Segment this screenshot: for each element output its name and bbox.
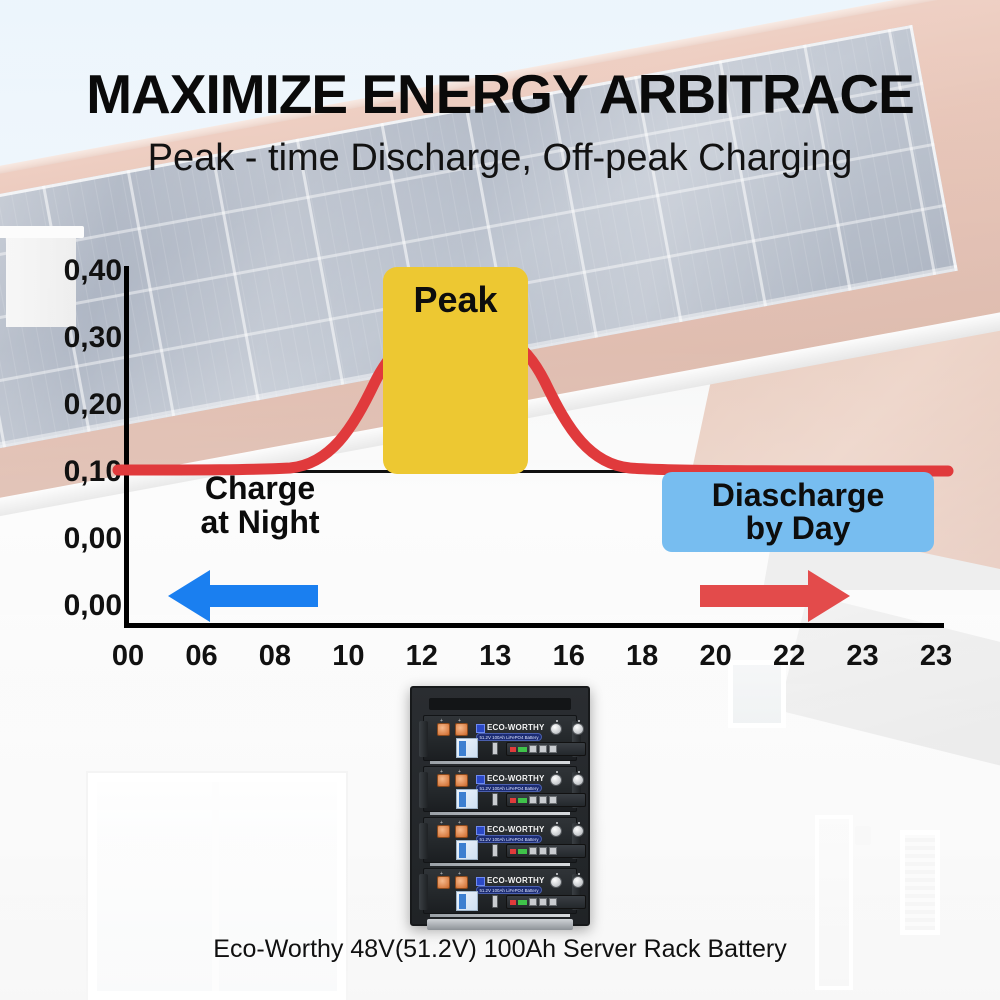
discharge-label-line1: Diascharge bbox=[712, 479, 885, 512]
brand-logo-icon bbox=[476, 724, 485, 733]
peak-label: Peak bbox=[413, 279, 497, 474]
module-base-trim bbox=[430, 914, 570, 917]
run-led-icon bbox=[518, 747, 527, 752]
alarm-led-icon bbox=[510, 900, 516, 905]
alarm-led-icon bbox=[510, 747, 516, 752]
battery-terminal bbox=[455, 723, 468, 736]
charge-label-line2: at Night bbox=[150, 506, 370, 540]
battery-module: + + ECO-WORTHY 51.2V 100Ah LiFePO4 Batte… bbox=[423, 766, 577, 812]
battery-module: + + ECO-WORTHY 51.2V 100Ah LiFePO4 Batte… bbox=[423, 868, 577, 914]
x-tick: 13 bbox=[471, 640, 519, 673]
battery-terminal bbox=[437, 825, 450, 838]
product-caption: Eco-Worthy 48V(51.2V) 100Ah Server Rack … bbox=[0, 935, 1000, 964]
rj45-port-icon bbox=[529, 796, 537, 804]
module-base-trim bbox=[430, 761, 570, 764]
x-tick: 06 bbox=[177, 640, 225, 673]
run-led-icon bbox=[518, 900, 527, 905]
module-spec-label: 51.2V 100Ah LiFePO4 Battery bbox=[476, 784, 542, 792]
status-display-icon bbox=[456, 840, 478, 860]
module-base-trim bbox=[430, 863, 570, 866]
battery-module: + + ECO-WORTHY 51.2V 100Ah LiFePO4 Batte… bbox=[423, 715, 577, 761]
x-tick: 20 bbox=[692, 640, 740, 673]
server-rack-battery-image: + + ECO-WORTHY 51.2V 100Ah LiFePO4 Batte… bbox=[410, 686, 590, 926]
x-tick: 08 bbox=[251, 640, 299, 673]
rj45-port-icon bbox=[549, 745, 557, 753]
rack-top-rail bbox=[429, 698, 571, 710]
status-display-icon bbox=[456, 891, 478, 911]
rj45-port-icon bbox=[539, 847, 547, 855]
module-spec-label: 51.2V 100Ah LiFePO4 Battery bbox=[476, 835, 542, 843]
x-tick: 10 bbox=[324, 640, 372, 673]
rj45-port-icon bbox=[549, 898, 557, 906]
rack-ear-left bbox=[419, 772, 428, 808]
x-tick: 12 bbox=[398, 640, 446, 673]
battery-terminal bbox=[437, 723, 450, 736]
run-led-icon bbox=[518, 798, 527, 803]
rack-ear-left bbox=[419, 823, 428, 859]
rj45-port-icon bbox=[539, 796, 547, 804]
mounting-knob bbox=[550, 774, 562, 786]
port-panel bbox=[506, 895, 586, 909]
brand-name: ECO-WORTHY bbox=[487, 825, 545, 834]
battery-terminal bbox=[437, 774, 450, 787]
peak-annotation-box: Peak bbox=[383, 267, 528, 474]
charge-left-arrow-icon bbox=[168, 568, 318, 624]
power-switch-icon bbox=[492, 844, 498, 857]
module-spec-label: 51.2V 100Ah LiFePO4 Battery bbox=[476, 733, 542, 741]
x-axis-tick-labels: 00 06 08 10 12 13 16 18 20 22 23 23 bbox=[104, 640, 960, 673]
battery-terminal bbox=[455, 774, 468, 787]
mounting-knob bbox=[572, 774, 584, 786]
x-tick: 22 bbox=[765, 640, 813, 673]
alarm-led-icon bbox=[510, 849, 516, 854]
power-switch-icon bbox=[492, 895, 498, 908]
brand-name: ECO-WORTHY bbox=[487, 876, 545, 885]
module-spec-label: 51.2V 100Ah LiFePO4 Battery bbox=[476, 886, 542, 894]
brand-logo-icon bbox=[476, 775, 485, 784]
battery-terminal bbox=[437, 876, 450, 889]
battery-terminal bbox=[455, 876, 468, 889]
brand-logo-icon bbox=[476, 826, 485, 835]
mounting-knob bbox=[550, 825, 562, 837]
port-panel bbox=[506, 742, 586, 756]
alarm-led-icon bbox=[510, 798, 516, 803]
x-tick: 23 bbox=[912, 640, 960, 673]
port-panel bbox=[506, 844, 586, 858]
mounting-knob bbox=[550, 723, 562, 735]
discharge-right-arrow-icon bbox=[700, 568, 850, 624]
x-tick: 16 bbox=[545, 640, 593, 673]
rj45-port-icon bbox=[529, 898, 537, 906]
battery-terminal bbox=[455, 825, 468, 838]
rj45-port-icon bbox=[529, 847, 537, 855]
battery-module: + + ECO-WORTHY 51.2V 100Ah LiFePO4 Batte… bbox=[423, 817, 577, 863]
rj45-port-icon bbox=[539, 745, 547, 753]
rack-ear-left bbox=[419, 874, 428, 910]
mounting-knob bbox=[572, 723, 584, 735]
rack-bottom-rail bbox=[427, 919, 573, 930]
status-display-icon bbox=[456, 738, 478, 758]
port-panel bbox=[506, 793, 586, 807]
charge-label-line1: Charge bbox=[150, 472, 370, 506]
rj45-port-icon bbox=[539, 898, 547, 906]
brand-logo-icon bbox=[476, 877, 485, 886]
module-base-trim bbox=[430, 812, 570, 815]
brand-name: ECO-WORTHY bbox=[487, 723, 545, 732]
mounting-knob bbox=[572, 825, 584, 837]
brand-name: ECO-WORTHY bbox=[487, 774, 545, 783]
mounting-knob bbox=[550, 876, 562, 888]
mounting-knob bbox=[572, 876, 584, 888]
x-tick: 00 bbox=[104, 640, 152, 673]
discharge-label-line2: by Day bbox=[746, 512, 851, 545]
rack-ear-left bbox=[419, 721, 428, 757]
discharge-annotation-box: Diascharge by Day bbox=[662, 472, 934, 552]
charge-annotation: Charge at Night bbox=[150, 472, 370, 539]
rj45-port-icon bbox=[549, 847, 557, 855]
run-led-icon bbox=[518, 849, 527, 854]
x-tick: 23 bbox=[839, 640, 887, 673]
power-switch-icon bbox=[492, 793, 498, 806]
rj45-port-icon bbox=[549, 796, 557, 804]
power-switch-icon bbox=[492, 742, 498, 755]
status-display-icon bbox=[456, 789, 478, 809]
rj45-port-icon bbox=[529, 745, 537, 753]
x-tick: 18 bbox=[618, 640, 666, 673]
